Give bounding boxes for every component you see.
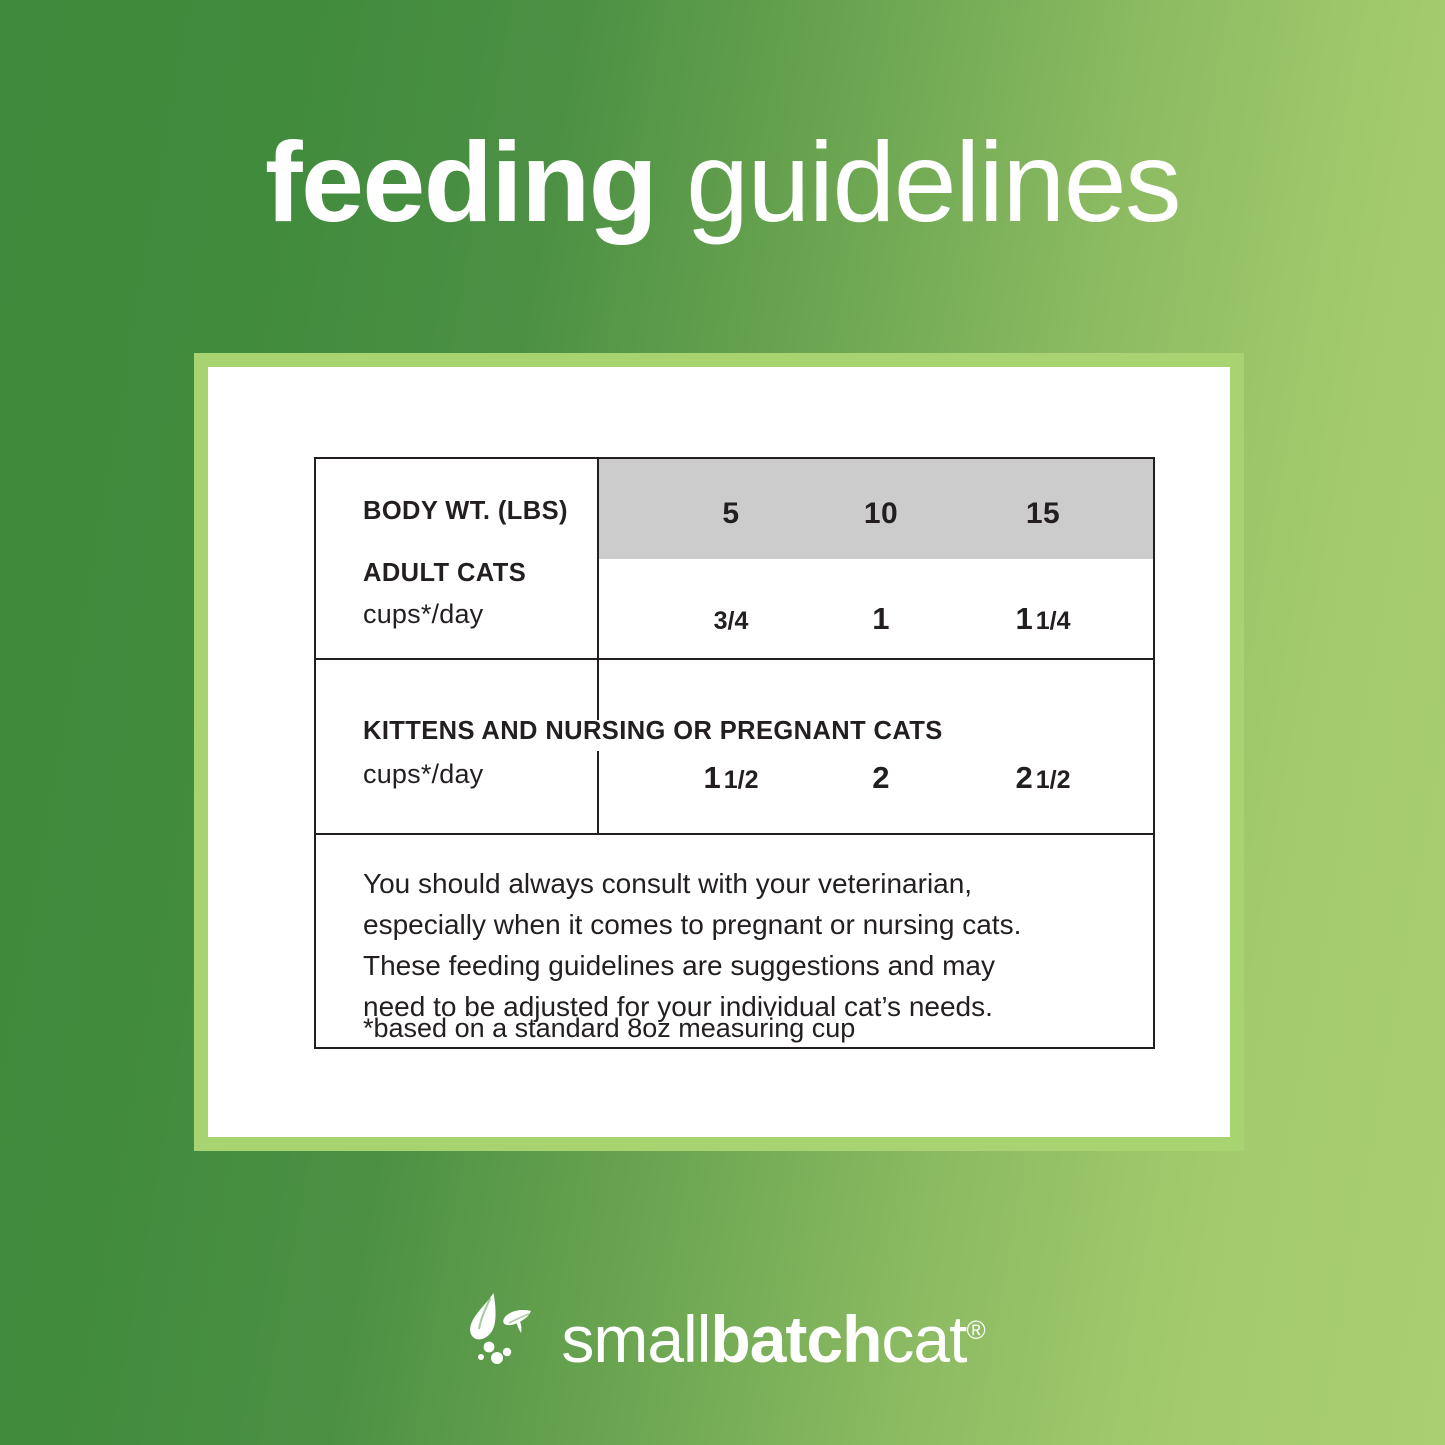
weight-value-2: 15 [963, 497, 1123, 531]
note-paragraph: You should always consult with your vete… [363, 863, 1083, 1027]
weight-value-0: 5 [651, 497, 811, 531]
brand-word-batch: batch [710, 1302, 881, 1376]
note-line-2: especially when it comes to pregnant or … [363, 904, 1083, 945]
table-row: BODY WT. (LBS) ADULT CATS cups*/day 5 10… [316, 459, 1153, 658]
note-line-1: You should always consult with your vete… [363, 863, 1083, 904]
kitten-cups-value-1: 2 [801, 760, 961, 796]
poster-canvas: feeding guidelines BODY WT. (LBS) ADULT … [0, 0, 1445, 1445]
adult-cups-value-2: 1 1/4 [963, 601, 1123, 637]
kittens-unit-label: cups*/day [363, 759, 483, 790]
brand-word-cat: cat [881, 1302, 966, 1376]
feeding-card: BODY WT. (LBS) ADULT CATS cups*/day 5 10… [208, 367, 1230, 1137]
table-row: KITTENS AND NURSING OR PREGNANT CATS cup… [316, 660, 1153, 833]
brand-wordmark: smallbatchcat® [561, 1306, 985, 1372]
table-note-section: You should always consult with your vete… [316, 835, 1153, 1047]
adult-cups-value-1: 1 [801, 601, 961, 637]
registered-trademark-symbol: ® [966, 1315, 985, 1345]
feeding-card-frame: BODY WT. (LBS) ADULT CATS cups*/day 5 10… [194, 353, 1244, 1151]
page-title-part-1: feeding [265, 119, 656, 245]
weight-value-1: 10 [801, 497, 961, 531]
kitten-cups-value-0: 1 1/2 [651, 760, 811, 796]
adult-cats-label: ADULT CATS [363, 559, 526, 588]
brand-word-small: small [561, 1302, 710, 1376]
page-title-spacer [656, 119, 686, 245]
kittens-label: KITTENS AND NURSING OR PREGNANT CATS [363, 717, 943, 746]
adult-cats-unit-label: cups*/day [363, 599, 483, 630]
adult-cups-value-0: 3/4 [651, 601, 811, 637]
note-line-3: These feeding guidelines are suggestions… [363, 945, 1083, 986]
body-weight-label: BODY WT. (LBS) [363, 497, 568, 526]
kitten-cups-value-2: 2 1/2 [963, 760, 1123, 796]
brand-logo: smallbatchcat® [0, 1272, 1445, 1397]
note-footnote: *based on a standard 8oz measuring cup [363, 1013, 855, 1044]
page-title: feeding guidelines [0, 126, 1445, 239]
feeding-table: BODY WT. (LBS) ADULT CATS cups*/day 5 10… [314, 457, 1155, 1049]
page-title-part-2: guidelines [686, 119, 1180, 245]
leaf-sprout-icon [459, 1289, 551, 1381]
